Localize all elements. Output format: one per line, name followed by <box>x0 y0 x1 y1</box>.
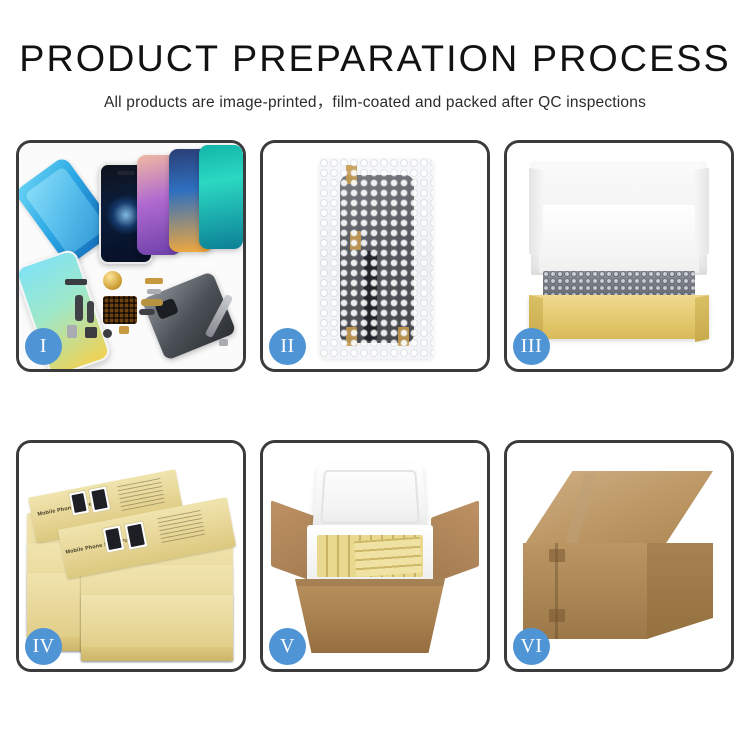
foam-lid-wing-right <box>695 168 709 256</box>
phone-teal <box>199 145 243 249</box>
small-part <box>119 326 129 334</box>
small-part <box>85 327 97 338</box>
chip-part <box>65 279 87 285</box>
box-stack: Mobile Phone Spare Parts Mobile Phone Sp… <box>27 465 241 660</box>
step-badge-4: IV <box>25 628 62 665</box>
small-part <box>67 325 77 338</box>
step-5-image: V <box>263 443 487 669</box>
flex-cable-part <box>75 295 83 321</box>
step-panel-2: II <box>260 140 490 372</box>
page-subtitle: All products are image-printed，film-coat… <box>0 90 750 112</box>
foam-lid-open <box>312 464 428 531</box>
screw-part <box>219 339 228 346</box>
product-preparation-infographic: PRODUCT PREPARATION PROCESS All products… <box>0 0 750 750</box>
step-badge-5: V <box>269 628 306 665</box>
step-panel-5: V <box>260 440 490 672</box>
flex-cable-part <box>87 301 94 323</box>
process-steps-grid: I II <box>16 140 734 672</box>
flex-cable-part <box>141 299 163 306</box>
packed-boxes <box>354 537 422 578</box>
stacked-box <box>81 595 233 661</box>
step-badge-6: VI <box>513 628 550 665</box>
carton-top-face <box>523 471 713 547</box>
contact-grid-part <box>103 296 137 324</box>
step-1-image: I <box>19 143 243 369</box>
step-badge-3: III <box>513 328 550 365</box>
step-4-image: Mobile Phone Spare Parts Mobile Phone Sp… <box>19 443 243 669</box>
chip-part <box>145 278 163 284</box>
flex-cable-part <box>139 309 155 315</box>
chip-part <box>147 289 161 294</box>
carton-side-face <box>647 543 713 639</box>
foam-lid <box>531 161 707 275</box>
step-3-image: III <box>507 143 731 369</box>
step-panel-3: III <box>504 140 734 372</box>
kraft-box-tray <box>529 295 709 339</box>
bubble-wrap-bag <box>320 159 433 359</box>
step-badge-1: I <box>25 328 62 365</box>
carton-flap-tab <box>549 609 565 622</box>
page-header: PRODUCT PREPARATION PROCESS All products… <box>0 0 750 112</box>
carton-front-face <box>523 543 647 639</box>
foam-lid-wing-left <box>529 168 543 256</box>
open-carton-body <box>295 579 445 653</box>
vibration-motor-part <box>103 271 122 290</box>
step-badge-2: II <box>269 328 306 365</box>
step-panel-4: Mobile Phone Spare Parts Mobile Phone Sp… <box>16 440 246 672</box>
bubble-texture <box>320 159 433 359</box>
step-6-image: VI <box>507 443 731 669</box>
step-panel-6: VI <box>504 440 734 672</box>
carton-flap-right <box>431 500 479 583</box>
page-title: PRODUCT PREPARATION PROCESS <box>0 40 750 79</box>
small-part <box>103 329 112 338</box>
carton-flap-tab <box>549 549 565 562</box>
step-2-image: II <box>263 143 487 369</box>
step-panel-1: I <box>16 140 246 372</box>
